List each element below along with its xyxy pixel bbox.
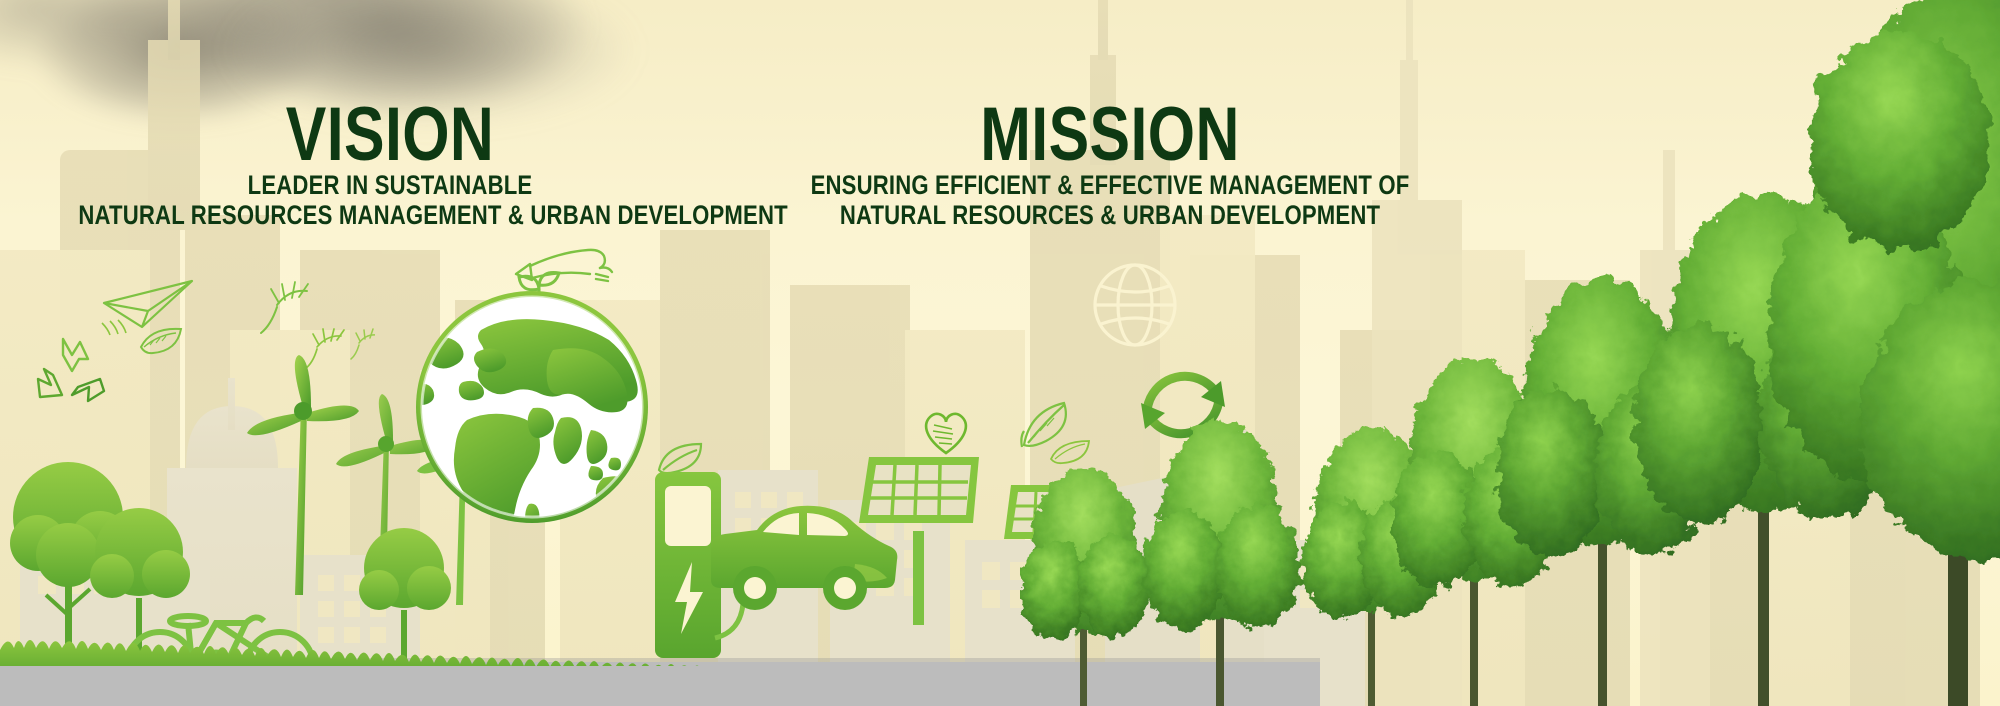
solar-panel-icon	[855, 445, 985, 625]
recycle-triangle-icon	[34, 335, 110, 413]
vision-heading: VISION	[86, 100, 694, 170]
tree-icon	[355, 500, 455, 670]
tree-row-mid	[1020, 400, 1320, 706]
vision-line-2: NATURAL RESOURCES MANAGEMENT & URBAN DEV…	[78, 200, 701, 230]
earth-globe-graphic	[415, 290, 650, 525]
vision-line-1: LEADER IN SUSTAINABLE	[78, 170, 701, 200]
tree-icon	[1768, 0, 2000, 706]
watering-can-icon	[510, 244, 620, 296]
headings-group: VISION LEADER IN SUSTAINABLE NATURAL RES…	[0, 0, 1400, 260]
tree-icon	[1144, 420, 1300, 706]
globe-grid-icon	[1092, 262, 1178, 348]
tree-row-photographic	[1280, 0, 2000, 706]
tree-icon	[1020, 466, 1150, 706]
leaf-icon	[138, 325, 188, 357]
eco-vision-mission-banner: VISION LEADER IN SUSTAINABLE NATURAL RES…	[0, 0, 2000, 706]
